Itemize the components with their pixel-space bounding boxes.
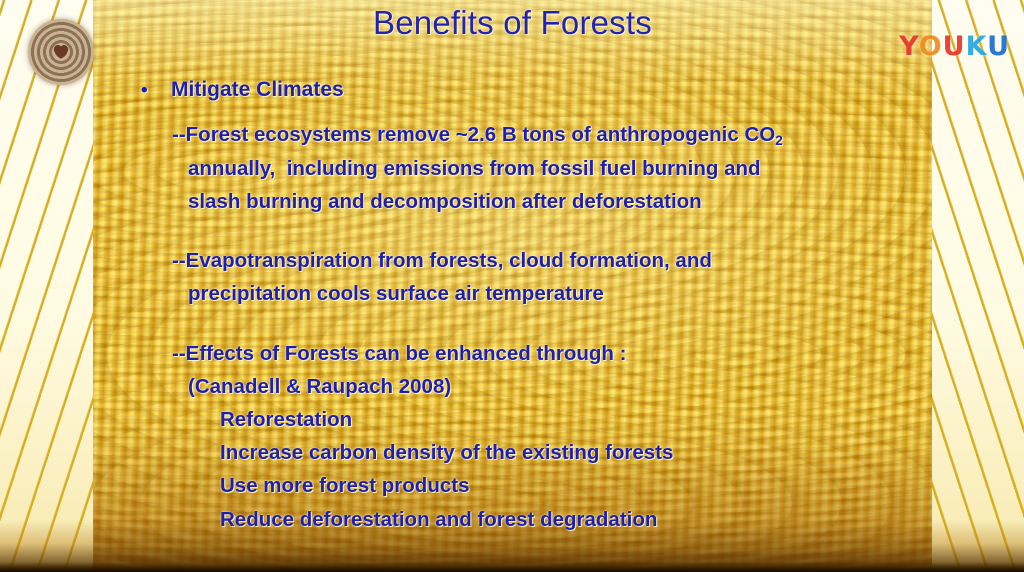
- sub-list-item: Reduce deforestation and forest degradat…: [93, 503, 932, 536]
- subscript-2: 2: [775, 133, 783, 148]
- paragraph-evapotranspiration: --Evapotranspiration from forests, cloud…: [93, 244, 932, 310]
- youku-letter-4: K: [966, 31, 987, 62]
- left-side-panel: [0, 0, 93, 572]
- presentation-slide: YOUKU Benefits of Forests • Mitigate Cli…: [0, 0, 1024, 572]
- slide-title: Benefits of Forests: [93, 4, 932, 42]
- bullet-item-label: Mitigate Climates: [171, 78, 344, 102]
- text-line-citation: (Canadell & Raupach 2008): [93, 370, 932, 403]
- paragraph-enhancement-effects: --Effects of Forests can be enhanced thr…: [93, 337, 932, 536]
- right-panel-shadow: [932, 520, 1024, 572]
- text-line: --Evapotranspiration from forests, cloud…: [93, 244, 932, 277]
- text-line: --Forest ecosystems remove ~2.6 B tons o…: [93, 118, 932, 152]
- sub-list-item: Use more forest products: [93, 469, 932, 502]
- text-line: --Effects of Forests can be enhanced thr…: [93, 337, 932, 370]
- text-line: precipitation cools surface air temperat…: [93, 277, 932, 310]
- slide-content-area: Benefits of Forests • Mitigate Climates …: [93, 0, 932, 572]
- paragraph-co2-removal: --Forest ecosystems remove ~2.6 B tons o…: [93, 118, 932, 218]
- text-line-content: --Forest ecosystems remove ~2.6 B tons o…: [172, 123, 775, 146]
- heart-icon: [53, 44, 70, 59]
- right-side-panel: [932, 0, 1024, 572]
- slide-body: • Mitigate Climates --Forest ecosystems …: [93, 78, 932, 538]
- sub-list-item: Reforestation: [93, 403, 932, 436]
- text-line: annually, including emissions from fossi…: [93, 152, 932, 185]
- text-line: slash burning and decomposition after de…: [93, 185, 932, 218]
- left-panel-shadow: [0, 520, 93, 572]
- bullet-point-icon: •: [141, 81, 171, 100]
- sub-list-item: Increase carbon density of the existing …: [93, 436, 932, 469]
- youku-letter-5: U: [987, 31, 1010, 62]
- bullet-item-mitigate-climates: • Mitigate Climates: [93, 78, 932, 102]
- youku-letter-3: U: [943, 31, 966, 62]
- tree-ring-heart-icon: [28, 19, 94, 85]
